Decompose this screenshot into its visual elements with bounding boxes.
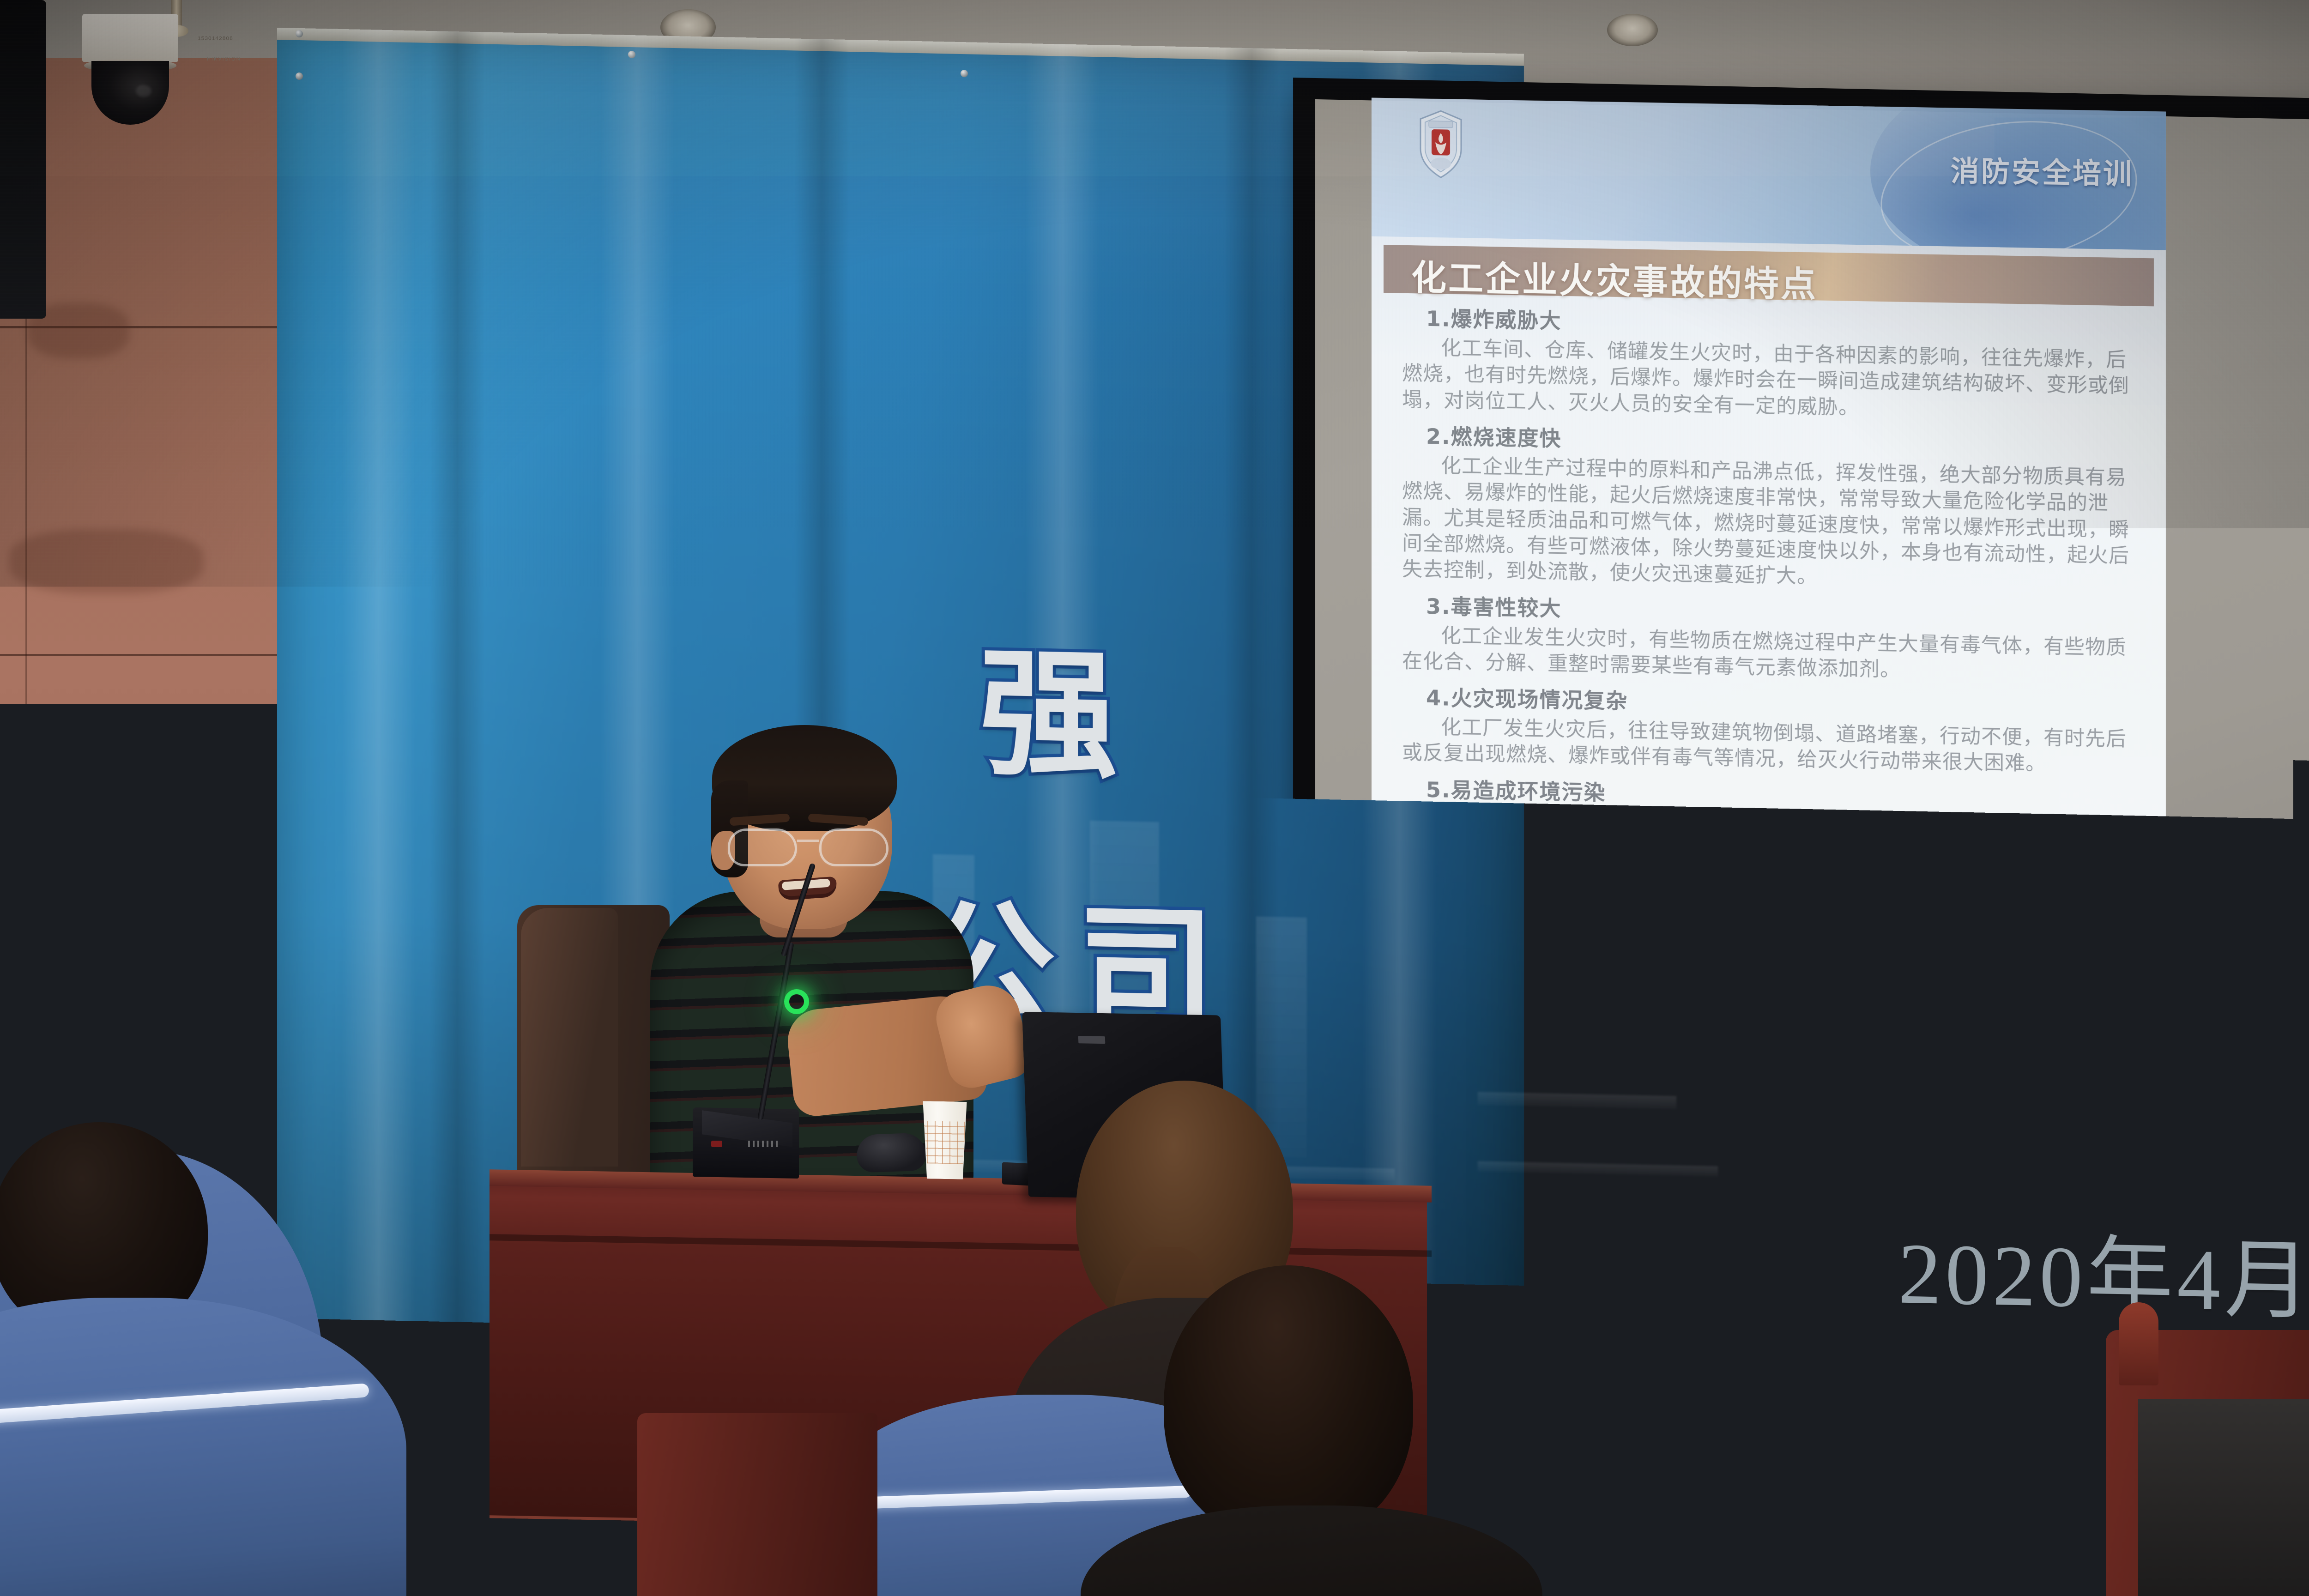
- banner-grommet-icon: [628, 51, 635, 58]
- slide-section-body: 化工企业发生火灾时，有些物质在燃烧过程中产生大量有毒气体，有些物质在化合、分解、…: [1402, 622, 2135, 687]
- eyeglasses-icon: [728, 828, 889, 868]
- slide-watermark: 化工企业消防: [1570, 941, 1648, 960]
- projection-screen-surface: 消防安全培训 化工企业火灾事故的特点 1.爆炸威胁大 化工车间、仓库、储罐发生火…: [1315, 99, 2309, 1039]
- slide-header-title: 消防安全培训: [1951, 148, 2134, 193]
- slide-section-body: 化工厂发生火灾后，往往导致建筑物倒塌、道路堵塞，行动不便，有时先后或反复出现燃烧…: [1402, 714, 2135, 779]
- dome-camera-housing: 1530142808 HIKVISION: [82, 14, 178, 62]
- computer-mouse-icon[interactable]: [856, 1132, 927, 1173]
- slide-section-heading: 5.易造成环境污染: [1426, 773, 2135, 816]
- slide-title-bar: 化工企业火灾事故的特点: [1384, 245, 2154, 306]
- fire-service-emblem-icon: [1413, 109, 1469, 180]
- wooden-chair: [637, 1413, 877, 1596]
- slide-section-body: 化工车间、仓库、储罐发生火灾时，由于各种因素的影响，往往先爆炸，后燃烧，也有时先…: [1402, 335, 2135, 426]
- camera-model-label: 1530142808: [198, 36, 233, 42]
- presentation-slide: 消防安全培训 化工企业火灾事故的特点 1.爆炸威胁大 化工车间、仓库、储罐发生火…: [1372, 98, 2166, 985]
- ceiling-downlight-icon: [1607, 14, 1658, 46]
- slide-header-band: 消防安全培训: [1372, 98, 2166, 250]
- slide-body: 1.爆炸威胁大 化工车间、仓库、储罐发生火灾时，由于各种因素的影响，往往先爆炸，…: [1384, 301, 2154, 915]
- presenter-chair-backrest: [521, 908, 618, 1167]
- banner-grommet-icon: [961, 70, 968, 77]
- banner-grommet-icon: [296, 30, 303, 37]
- conference-room-photo: 1530142808 HIKVISION 强 海公司 2020年4月: [0, 0, 2309, 1596]
- projection-screen-frame: 消防安全培训 化工企业火灾事故的特点 1.爆炸威胁大 化工车间、仓库、储罐发生火…: [1293, 78, 2309, 1083]
- microphone-level-meter: [748, 1141, 780, 1147]
- slide-title: 化工企业火灾事故的特点: [1411, 249, 1818, 307]
- banner-headline-line1: 强: [979, 601, 1139, 805]
- microphone-active-led-icon: [784, 989, 809, 1014]
- slide-footer-band: [1372, 912, 2166, 985]
- banner-date-text: 2020年4月: [1898, 1203, 2309, 1337]
- audience-member: [1099, 1265, 1515, 1596]
- wall-speaker: [0, 0, 46, 319]
- paper-cup-pattern: [920, 1121, 970, 1164]
- laptop-brand-logo: [1078, 1036, 1106, 1044]
- audience-member: [0, 1122, 342, 1596]
- microphone-power-led-icon: [711, 1141, 722, 1147]
- banner-grommet-icon: [296, 73, 303, 80]
- camera-brand-label: HIKVISION: [207, 56, 241, 62]
- slide-section-body: 化工企业生产过程中的原料和产品沸点低，挥发性强，绝大部分物质具有易燃烧、易爆炸的…: [1402, 453, 2135, 595]
- wooden-chair: [2106, 1330, 2309, 1596]
